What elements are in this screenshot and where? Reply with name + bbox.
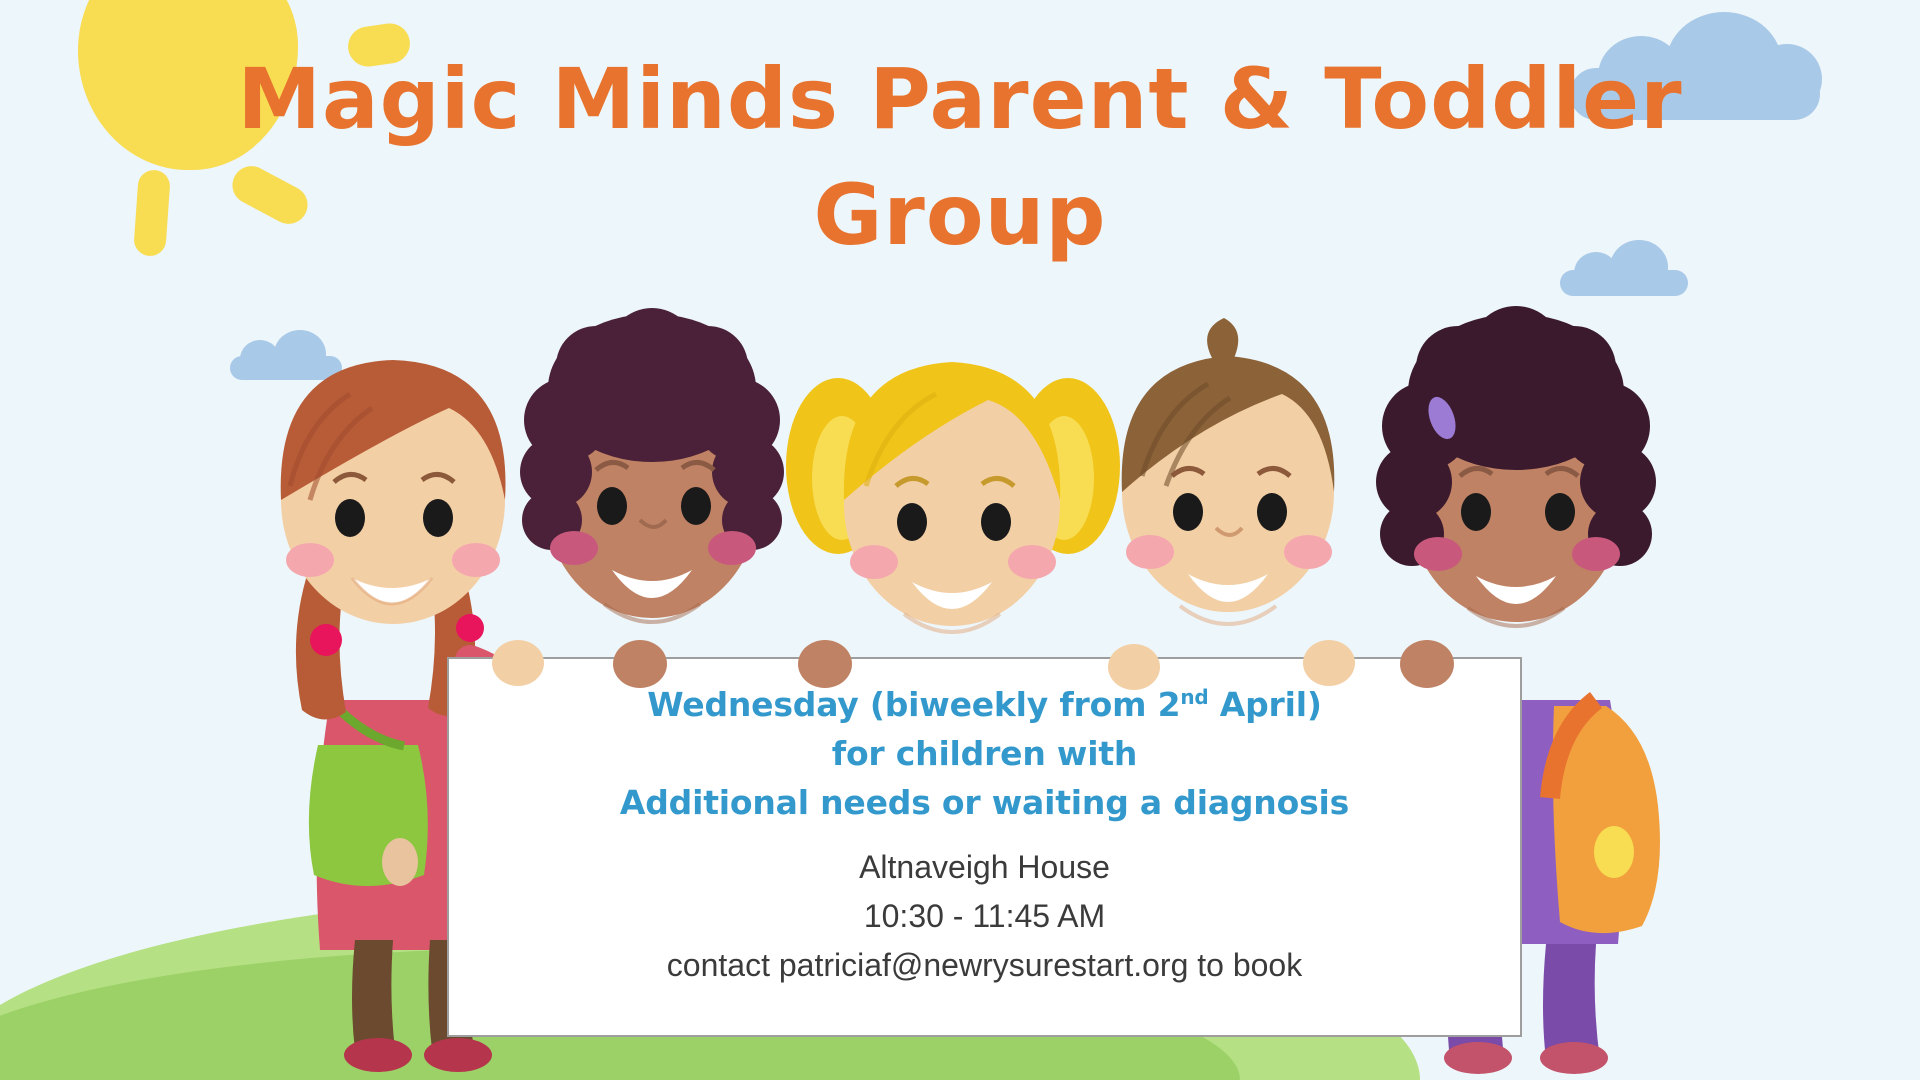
highlight-1-pre: Wednesday (biweekly from 2: [647, 685, 1180, 724]
hand-boy-dark-curly-right: [798, 640, 852, 688]
highlight-1-post: April): [1209, 685, 1322, 724]
title-line-2: Group: [40, 158, 1880, 274]
ordinal-suffix: nd: [1180, 685, 1208, 709]
poster-canvas: Magic Minds Parent & Toddler Group: [0, 0, 1920, 1080]
hand-girl-red-braids: [492, 640, 544, 686]
sign-body-block: Altnaveigh House 10:30 - 11:45 AM contac…: [475, 843, 1494, 989]
hand-girl-afro: [1400, 640, 1454, 688]
venue-line: Altnaveigh House: [475, 843, 1494, 892]
hand-boy-dark-curly-left: [613, 640, 667, 688]
sign-highlight-line-1: Wednesday (biweekly from 2nd April): [475, 681, 1494, 730]
title-line-1: Magic Minds Parent & Toddler: [40, 42, 1880, 158]
contact-line: contact patriciaf@newrysurestart.org to …: [475, 941, 1494, 990]
info-sign: Wednesday (biweekly from 2nd April) for …: [447, 657, 1522, 1037]
sign-highlight-line-3: Additional needs or waiting a diagnosis: [475, 779, 1494, 828]
time-line: 10:30 - 11:45 AM: [475, 892, 1494, 941]
sign-highlight-block: Wednesday (biweekly from 2nd April) for …: [475, 681, 1494, 827]
hand-girl-blonde: [1108, 644, 1160, 690]
page-title: Magic Minds Parent & Toddler Group: [0, 42, 1920, 274]
hand-boy-brown-left: [1303, 640, 1355, 686]
sign-highlight-line-2: for children with: [475, 730, 1494, 779]
